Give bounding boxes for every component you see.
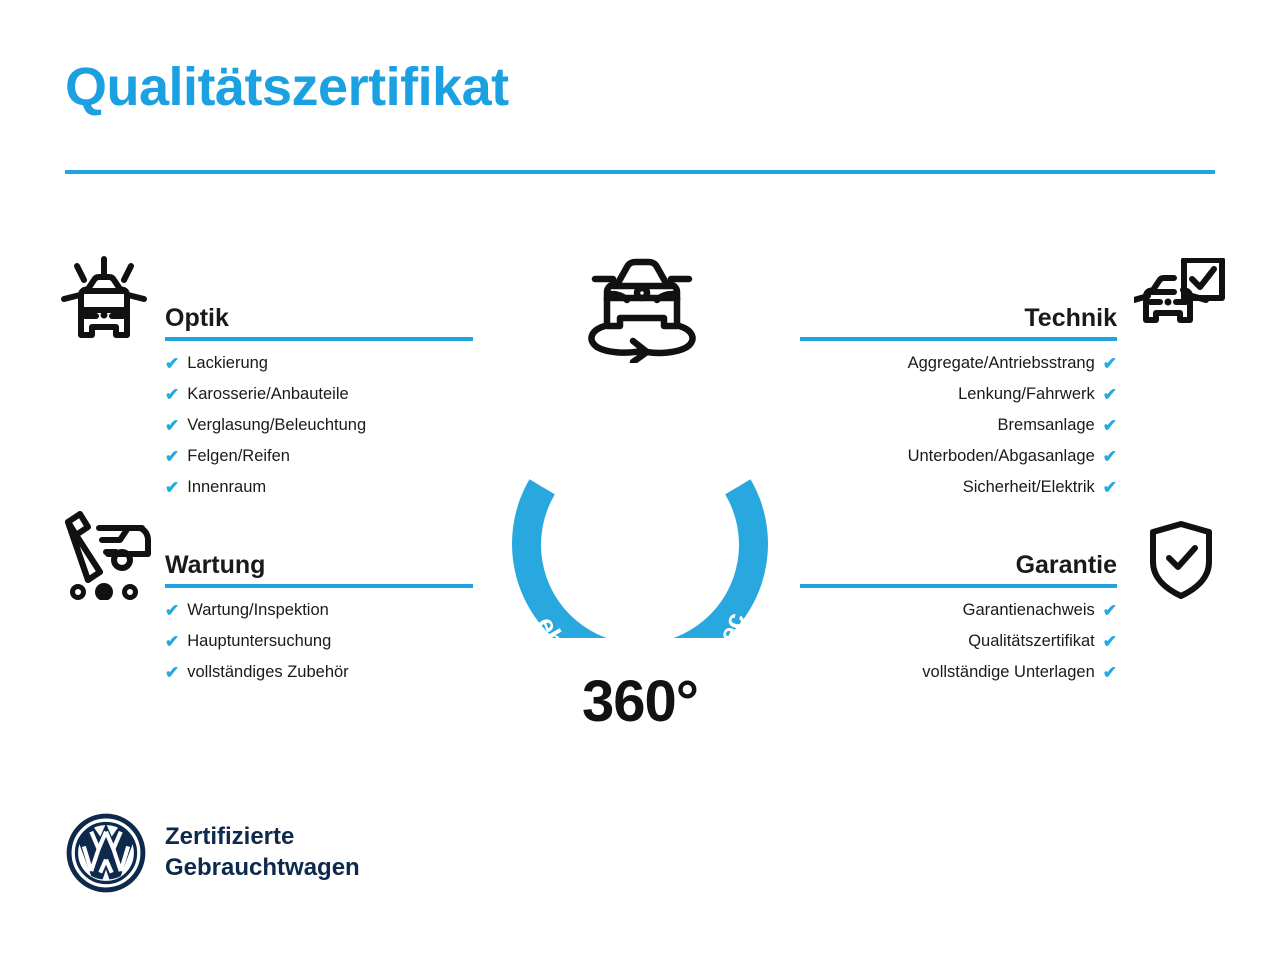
certificate-page: Qualitätszertifikat Optik xyxy=(0,0,1280,960)
check-icon: ✔ xyxy=(1103,417,1117,434)
check-icon: ✔ xyxy=(1103,386,1117,403)
footer-logo-block: Zertifizierte Gebrauchtwagen xyxy=(65,812,360,894)
list-item-label: Lenkung/Fahrwerk xyxy=(958,386,1095,403)
list-item-label: Hauptuntersuchung xyxy=(187,633,331,650)
check-icon: ✔ xyxy=(165,448,179,465)
check-icon: ✔ xyxy=(165,355,179,372)
list-item: vollständige Unterlagen✔ xyxy=(800,664,1117,681)
list-item: Garantienachweis✔ xyxy=(800,602,1117,619)
section-technik: Technik Aggregate/Antriebsstrang✔ Lenkun… xyxy=(800,295,1117,510)
car-polish-shine-icon xyxy=(58,255,150,355)
list-item-label: Wartung/Inspektion xyxy=(187,602,329,619)
list-item: Sicherheit/Elektrik✔ xyxy=(800,479,1117,496)
page-title: Qualitätszertifikat xyxy=(65,58,509,117)
list-item-label: Aggregate/Antriebsstrang xyxy=(908,355,1095,372)
footer-line-2: Gebrauchtwagen xyxy=(165,853,360,884)
footer-line-1: Zertifizierte xyxy=(165,822,360,853)
list-item-label: Karosserie/Anbauteile xyxy=(187,386,348,403)
section-optik: Optik ✔Lackierung ✔Karosserie/Anbauteile… xyxy=(165,295,473,510)
check-icon: ✔ xyxy=(1103,448,1117,465)
check-icon: ✔ xyxy=(165,602,179,619)
pencil-car-service-icon xyxy=(58,508,158,605)
list-item-label: Unterboden/Abgasanlage xyxy=(908,448,1095,465)
checklist-garantie: Garantienachweis✔ Qualitätszertifikat✔ v… xyxy=(800,602,1117,681)
section-divider xyxy=(800,584,1117,588)
list-item-label: Lackierung xyxy=(187,355,268,372)
check-icon: ✔ xyxy=(1103,664,1117,681)
footer-text: Zertifizierte Gebrauchtwagen xyxy=(165,822,360,883)
header-divider xyxy=(65,170,1215,174)
list-item: Qualitätszertifikat✔ xyxy=(800,633,1117,650)
section-garantie: Garantie Garantienachweis✔ Qualitätszert… xyxy=(800,542,1117,695)
list-item: ✔Lackierung xyxy=(165,355,473,372)
list-item: ✔Felgen/Reifen xyxy=(165,448,473,465)
section-title: Garantie xyxy=(1016,551,1117,580)
checklist-wartung: ✔Wartung/Inspektion ✔Hauptuntersuchung ✔… xyxy=(165,602,473,681)
list-item: ✔Innenraum xyxy=(165,479,473,496)
section-header: Garantie xyxy=(800,542,1117,588)
section-divider xyxy=(165,584,473,588)
section-divider xyxy=(800,337,1117,341)
check-icon: ✔ xyxy=(165,386,179,403)
car-rotate-360-icon xyxy=(575,248,705,368)
list-item-label: Felgen/Reifen xyxy=(187,448,290,465)
list-item-label: Garantienachweis xyxy=(963,602,1095,619)
list-item: ✔Hauptuntersuchung xyxy=(165,633,473,650)
gebrauchtwagen-check-badge: Gebrauchtwagen-Check xyxy=(465,248,815,638)
check-icon: ✔ xyxy=(1103,479,1117,496)
car-checkbox-icon xyxy=(1134,258,1226,353)
section-title: Optik xyxy=(165,304,229,333)
list-item: Bremsanlage✔ xyxy=(800,417,1117,434)
section-header: Optik xyxy=(165,295,473,341)
list-item-label: Qualitätszertifikat xyxy=(968,633,1095,650)
list-item: ✔Verglasung/Beleuchtung xyxy=(165,417,473,434)
check-icon: ✔ xyxy=(165,479,179,496)
list-item: Lenkung/Fahrwerk✔ xyxy=(800,386,1117,403)
list-item-label: Bremsanlage xyxy=(998,417,1095,434)
vw-logo-icon xyxy=(65,812,147,894)
section-wartung: Wartung ✔Wartung/Inspektion ✔Hauptunters… xyxy=(165,542,473,695)
section-header: Technik xyxy=(800,295,1117,341)
checklist-technik: Aggregate/Antriebsstrang✔ Lenkung/Fahrwe… xyxy=(800,355,1117,496)
shield-check-icon xyxy=(1146,520,1216,605)
check-icon: ✔ xyxy=(1103,633,1117,650)
list-item: Unterboden/Abgasanlage✔ xyxy=(800,448,1117,465)
badge-value: 360° xyxy=(465,668,815,735)
list-item: Aggregate/Antriebsstrang✔ xyxy=(800,355,1117,372)
section-title: Wartung xyxy=(165,551,265,580)
section-title: Technik xyxy=(1024,304,1117,333)
check-icon: ✔ xyxy=(165,664,179,681)
section-header: Wartung xyxy=(165,542,473,588)
list-item-label: Verglasung/Beleuchtung xyxy=(187,417,366,434)
list-item: ✔vollständiges Zubehör xyxy=(165,664,473,681)
check-icon: ✔ xyxy=(165,417,179,434)
check-icon: ✔ xyxy=(1103,602,1117,619)
list-item-label: Innenraum xyxy=(187,479,266,496)
check-icon: ✔ xyxy=(1103,355,1117,372)
list-item-label: vollständiges Zubehör xyxy=(187,664,348,681)
list-item-label: vollständige Unterlagen xyxy=(922,664,1094,681)
list-item-label: Sicherheit/Elektrik xyxy=(963,479,1095,496)
check-icon: ✔ xyxy=(165,633,179,650)
list-item: ✔Karosserie/Anbauteile xyxy=(165,386,473,403)
section-divider xyxy=(165,337,473,341)
list-item: ✔Wartung/Inspektion xyxy=(165,602,473,619)
checklist-optik: ✔Lackierung ✔Karosserie/Anbauteile ✔Verg… xyxy=(165,355,473,496)
